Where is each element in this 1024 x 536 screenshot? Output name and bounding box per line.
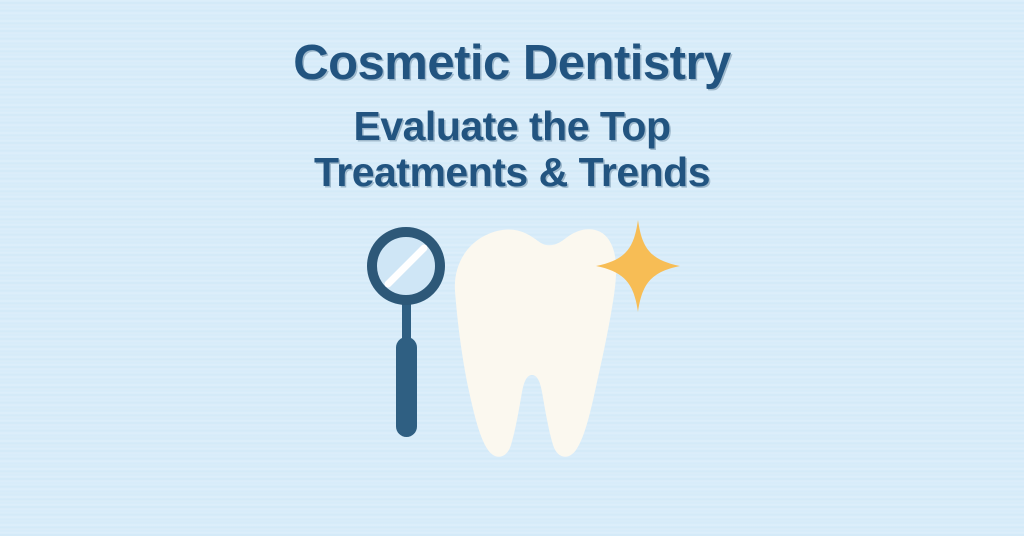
dental-mirror-icon [372, 232, 440, 437]
mirror-handle [396, 337, 417, 437]
promo-banner: Cosmetic Dentistry Evaluate the Top Trea… [0, 0, 1024, 536]
dental-illustration [0, 0, 1024, 536]
tooth-shape [455, 229, 616, 457]
tooth-icon [455, 229, 616, 457]
illustration-canvas [0, 0, 1024, 536]
